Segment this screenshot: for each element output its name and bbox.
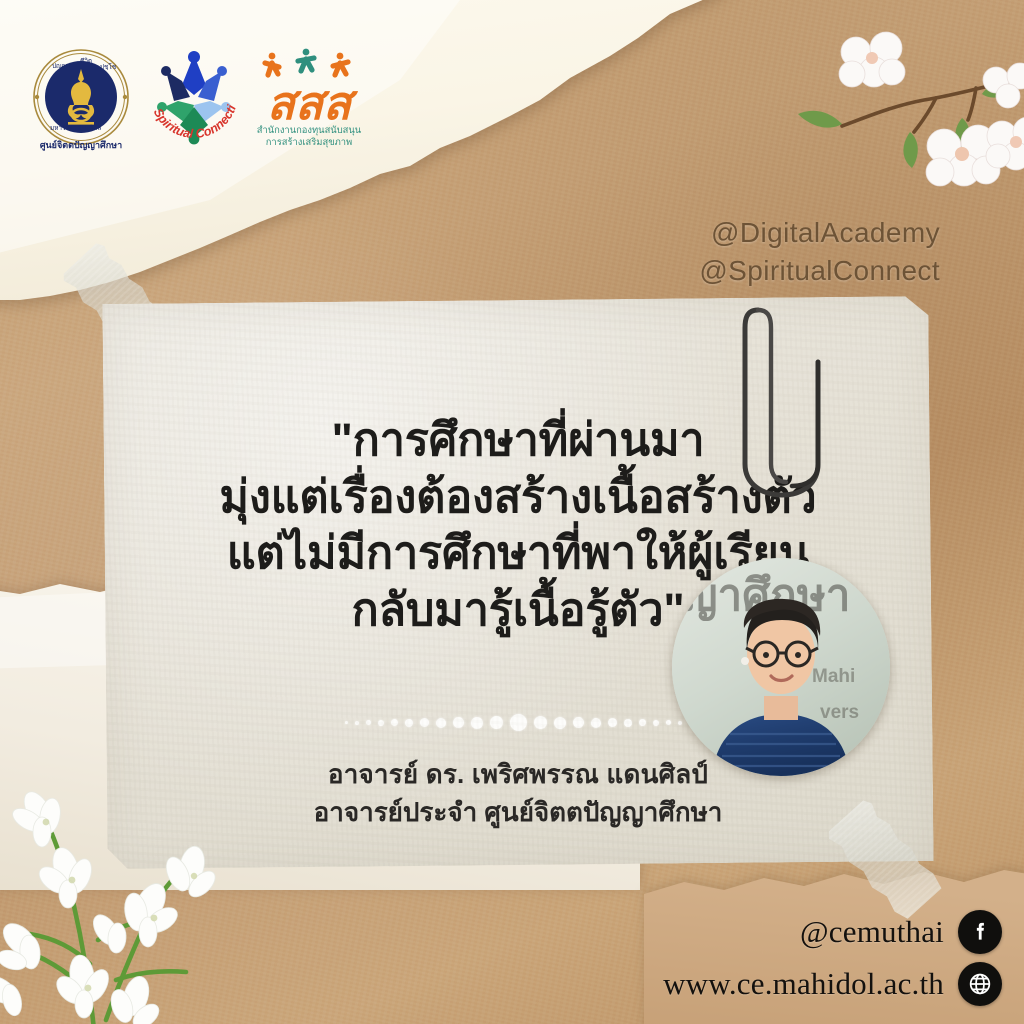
paperclip-icon bbox=[742, 296, 828, 501]
facebook-icon[interactable] bbox=[958, 910, 1002, 954]
white-flower-sprigs bbox=[0, 690, 266, 1024]
footer-row-facebook[interactable]: @cemuthai bbox=[800, 910, 1002, 954]
globe-icon[interactable] bbox=[958, 962, 1002, 1006]
svg-text:มหาวิทยาลัยมหิดล: มหาวิทยาลัยมหิดล bbox=[50, 124, 101, 132]
logo-row: ปญฺญาชีวิตปชฺโช มหาวิทยาลัยมหิดล ศูนย์จิ… bbox=[24, 42, 368, 156]
poster-canvas: ปญฺญาชีวิตปชฺโช มหาวิทยาลัยมหิดล ศูนย์จิ… bbox=[0, 0, 1024, 1024]
cherry-blossom-branch bbox=[724, 14, 1024, 199]
facebook-handle: @cemuthai bbox=[800, 914, 944, 950]
social-handles: @DigitalAcademy @SpiritualConnect bbox=[699, 214, 940, 290]
footer: @cemuthai www.ce.mahidol.ac.th bbox=[663, 910, 1002, 1006]
svg-text:Mahi: Mahi bbox=[812, 666, 855, 687]
sss-wordmark: สสส bbox=[267, 77, 359, 129]
svg-text:สำนักงานกองทุนสนับสนุน: สำนักงานกองทุนสนับสนุน bbox=[257, 124, 362, 136]
website-url: www.ce.mahidol.ac.th bbox=[663, 966, 944, 1002]
handle-spiritual-connect: @SpiritualConnect bbox=[699, 252, 940, 290]
svg-text:การสร้างเสริมสุขภาพ: การสร้างเสริมสุขภาพ bbox=[266, 136, 352, 148]
svg-text:ศูนย์จิตตปัญญาศึกษา: ศูนย์จิตตปัญญาศึกษา bbox=[40, 139, 122, 151]
thaihealth-sss-logo: สสส สำนักงานกองทุนสนับสนุน การสร้างเสริม… bbox=[250, 47, 368, 151]
svg-text:ชีวิต: ชีวิต bbox=[80, 57, 92, 65]
svg-text:ปชฺโช: ปชฺโช bbox=[100, 63, 117, 71]
spiritual-connection-logo: Spiritual Connection bbox=[144, 45, 244, 153]
svg-text:vers: vers bbox=[820, 702, 859, 723]
speaker-portrait: ญาศึกษา Mahivers bbox=[672, 558, 890, 776]
footer-row-website[interactable]: www.ce.mahidol.ac.th bbox=[663, 962, 1002, 1006]
mahidol-contemplative-education-seal: ปญฺญาชีวิตปชฺโช มหาวิทยาลัยมหิดล ศูนย์จิ… bbox=[24, 42, 138, 156]
svg-text:ปญฺญา: ปญฺญา bbox=[52, 63, 71, 70]
handle-digital-academy: @DigitalAcademy bbox=[699, 214, 940, 252]
